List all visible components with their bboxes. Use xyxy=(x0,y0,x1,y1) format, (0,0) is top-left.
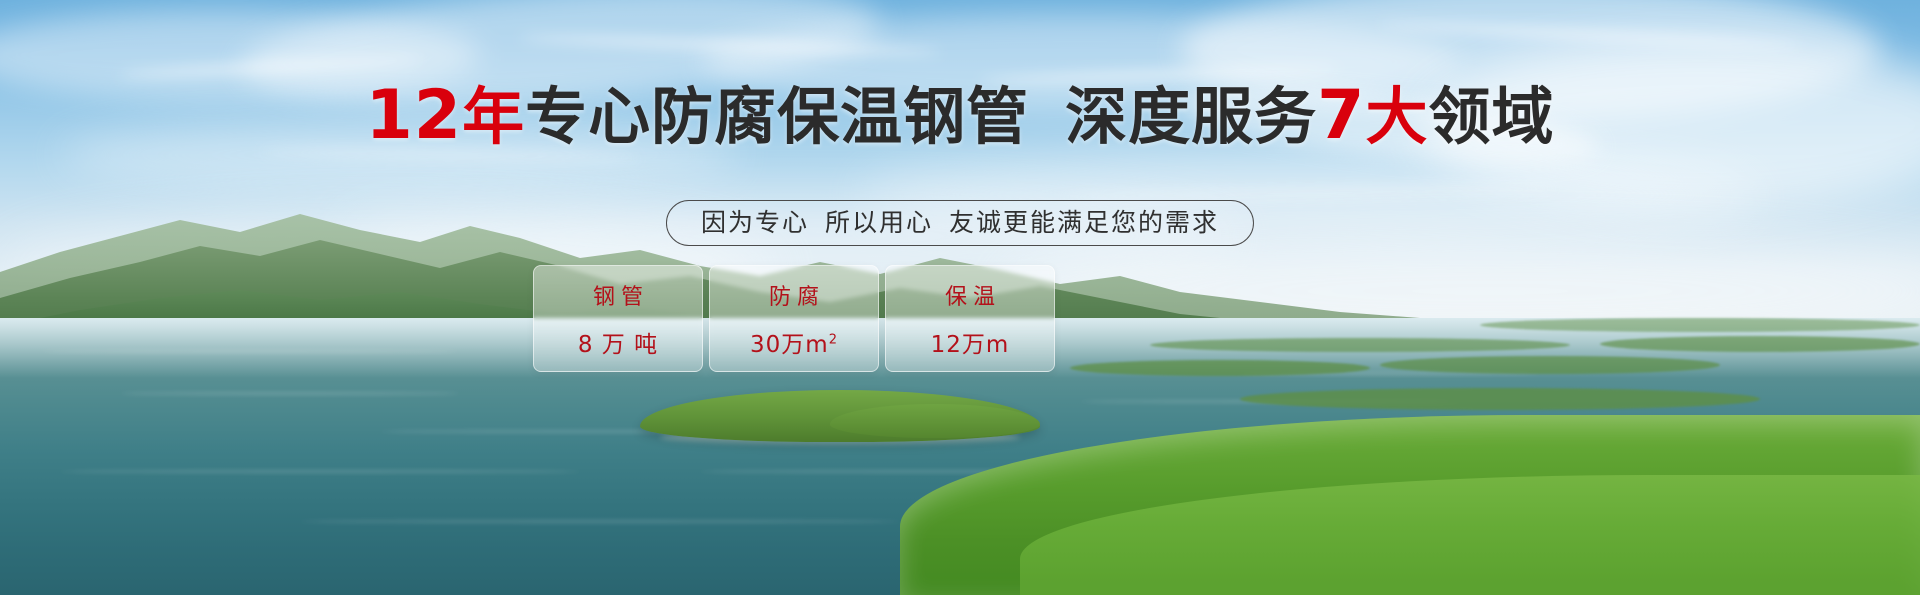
stat-card-title: 保温 xyxy=(939,279,1001,311)
stat-card-value-text: 30万m xyxy=(750,332,829,358)
stat-card-value-text: 8 万 吨 xyxy=(578,332,658,358)
marsh-patch xyxy=(1240,388,1760,410)
grass-island-secondary xyxy=(830,404,1040,438)
stat-card-value: 30万m2 xyxy=(750,325,838,359)
stat-card-value-superscript: 2 xyxy=(829,332,838,347)
subtitle-part-3: 友诚更能满足您的需求 xyxy=(949,208,1219,237)
headline-fields-unit: 大 xyxy=(1365,80,1428,153)
headline-fields-text: 领域 xyxy=(1429,80,1555,153)
headline-years-number: 12 xyxy=(365,76,462,155)
stat-card-anticorrosion: 防腐 30万m2 xyxy=(709,265,879,372)
hero-banner: 12年专心防腐保温钢管深度服务7大领域 因为专心所以用心友诚更能满足您的需求 钢… xyxy=(0,0,1920,595)
marsh-patch xyxy=(1070,360,1370,376)
page-title: 12年专心防腐保温钢管深度服务7大领域 xyxy=(0,82,1920,150)
stat-card-insulation: 保温 12万m xyxy=(885,265,1055,372)
water-ripple xyxy=(120,392,460,395)
subtitle-part-2: 所以用心 xyxy=(825,208,933,237)
headline-main-text: 专心防腐保温钢管 xyxy=(525,80,1029,153)
marsh-patch xyxy=(1380,356,1720,374)
headline-service-text: 深度服务 xyxy=(1065,80,1317,153)
water-ripple xyxy=(40,350,460,353)
subtitle-pill: 因为专心所以用心友诚更能满足您的需求 xyxy=(666,200,1254,246)
stat-card-value-text: 12万m xyxy=(931,332,1010,358)
stat-card-steel-pipe: 钢管 8 万 吨 xyxy=(533,265,703,372)
headline-fields-number: 7 xyxy=(1317,76,1365,155)
stat-card-title: 钢管 xyxy=(587,279,649,311)
marsh-patch xyxy=(1600,336,1920,352)
stat-card-group: 钢管 8 万 吨 防腐 30万m2 保温 12万m xyxy=(533,265,1055,372)
marsh-patch xyxy=(1150,338,1570,352)
stat-card-value: 8 万 吨 xyxy=(578,325,658,359)
stat-card-title: 防腐 xyxy=(763,279,825,311)
marsh-patch xyxy=(1480,318,1920,332)
water-ripple xyxy=(60,470,580,473)
subtitle-part-1: 因为专心 xyxy=(701,208,809,237)
water-ripple xyxy=(300,520,900,523)
headline-years-unit: 年 xyxy=(462,80,525,153)
stat-card-value: 12万m xyxy=(931,325,1010,359)
